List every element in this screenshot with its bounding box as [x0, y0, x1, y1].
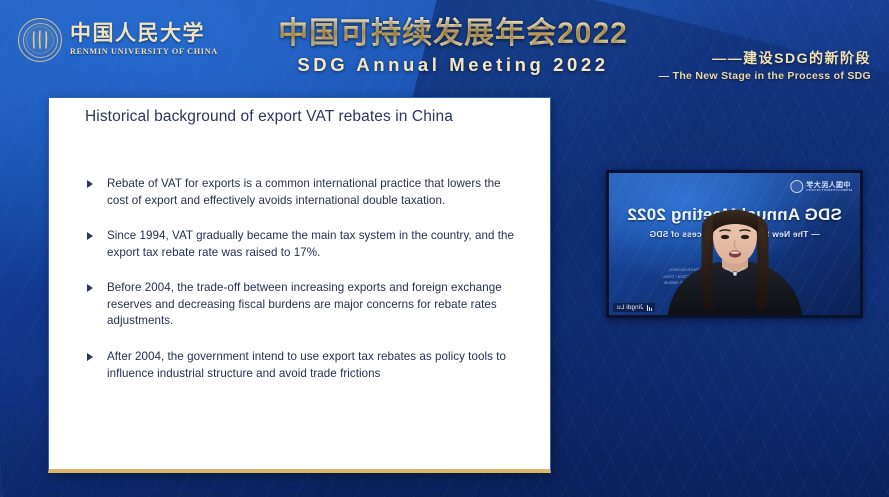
presentation-stream-view: 中国人民大学 RENMIN UNIVERSITY OF CHINA 中国可持续发…	[0, 0, 889, 497]
video-backdrop-seal-icon	[790, 180, 803, 193]
slide-bullet-text: Before 2004, the trade-off between incre…	[107, 281, 502, 327]
university-logo: 中国人民大学 RENMIN UNIVERSITY OF CHINA	[18, 18, 218, 62]
bullet-triangle-icon	[87, 180, 93, 188]
slide-bullet-text: Since 1994, VAT gradually became the mai…	[107, 229, 514, 259]
event-header: 中国人民大学 RENMIN UNIVERSITY OF CHINA 中国可持续发…	[0, 0, 889, 96]
slide-bullet-item: After 2004, the government intend to use…	[85, 349, 525, 382]
event-title-en: SDG Annual Meeting 2022	[258, 54, 648, 76]
bullet-triangle-icon	[87, 232, 93, 240]
participant-video-tile[interactable]: 中国人民大学 RENMIN UNIVERSITY OF CHINA SDG An…	[606, 170, 863, 318]
event-subtitle-en: — The New Stage in the Process of SDG	[659, 70, 871, 82]
shared-slide[interactable]: Historical background of export VAT reba…	[48, 97, 551, 473]
event-subtitle-block: ——建设SDG的新阶段 — The New Stage in the Proce…	[659, 48, 871, 82]
slide-bullet-item: Since 1994, VAT gradually became the mai…	[85, 228, 525, 261]
slide-bullet-item: Rebate of VAT for exports is a common in…	[85, 176, 525, 209]
renmin-university-seal-icon	[18, 18, 62, 62]
slide-bullet-text: After 2004, the government intend to use…	[107, 350, 506, 380]
slide-title: Historical background of export VAT reba…	[85, 108, 453, 126]
bullet-triangle-icon	[87, 284, 93, 292]
video-feed: 中国人民大学 RENMIN UNIVERSITY OF CHINA SDG An…	[609, 173, 860, 315]
slide-bullet-text: Rebate of VAT for exports is a common in…	[107, 177, 501, 207]
bullet-triangle-icon	[87, 353, 93, 361]
slide-bullet-item: Before 2004, the trade-off between incre…	[85, 280, 525, 330]
video-backdrop-logo-cn: 中国人民大学	[806, 181, 852, 189]
event-subtitle-cn: ——建设SDG的新阶段	[659, 48, 871, 68]
video-backdrop-logo-en: RENMIN UNIVERSITY OF CHINA	[806, 189, 852, 192]
university-name-en: RENMIN UNIVERSITY OF CHINA	[70, 48, 218, 56]
university-name-cn: 中国人民大学	[70, 23, 218, 44]
participant-silhouette	[660, 197, 810, 315]
event-title-block: 中国可持续发展年会2022 中国可持续发展年会2022 SDG Annual M…	[258, 8, 648, 76]
slide-bullet-list: Rebate of VAT for exports is a common in…	[85, 176, 525, 382]
participant-name: Jingdi Lu	[617, 304, 643, 311]
audio-level-icon	[646, 305, 651, 311]
participant-name-tag: Jingdi Lu	[613, 303, 655, 312]
video-backdrop-logo: 中国人民大学 RENMIN UNIVERSITY OF CHINA	[790, 180, 852, 193]
event-title-cn: 中国可持续发展年会2022	[258, 8, 648, 52]
